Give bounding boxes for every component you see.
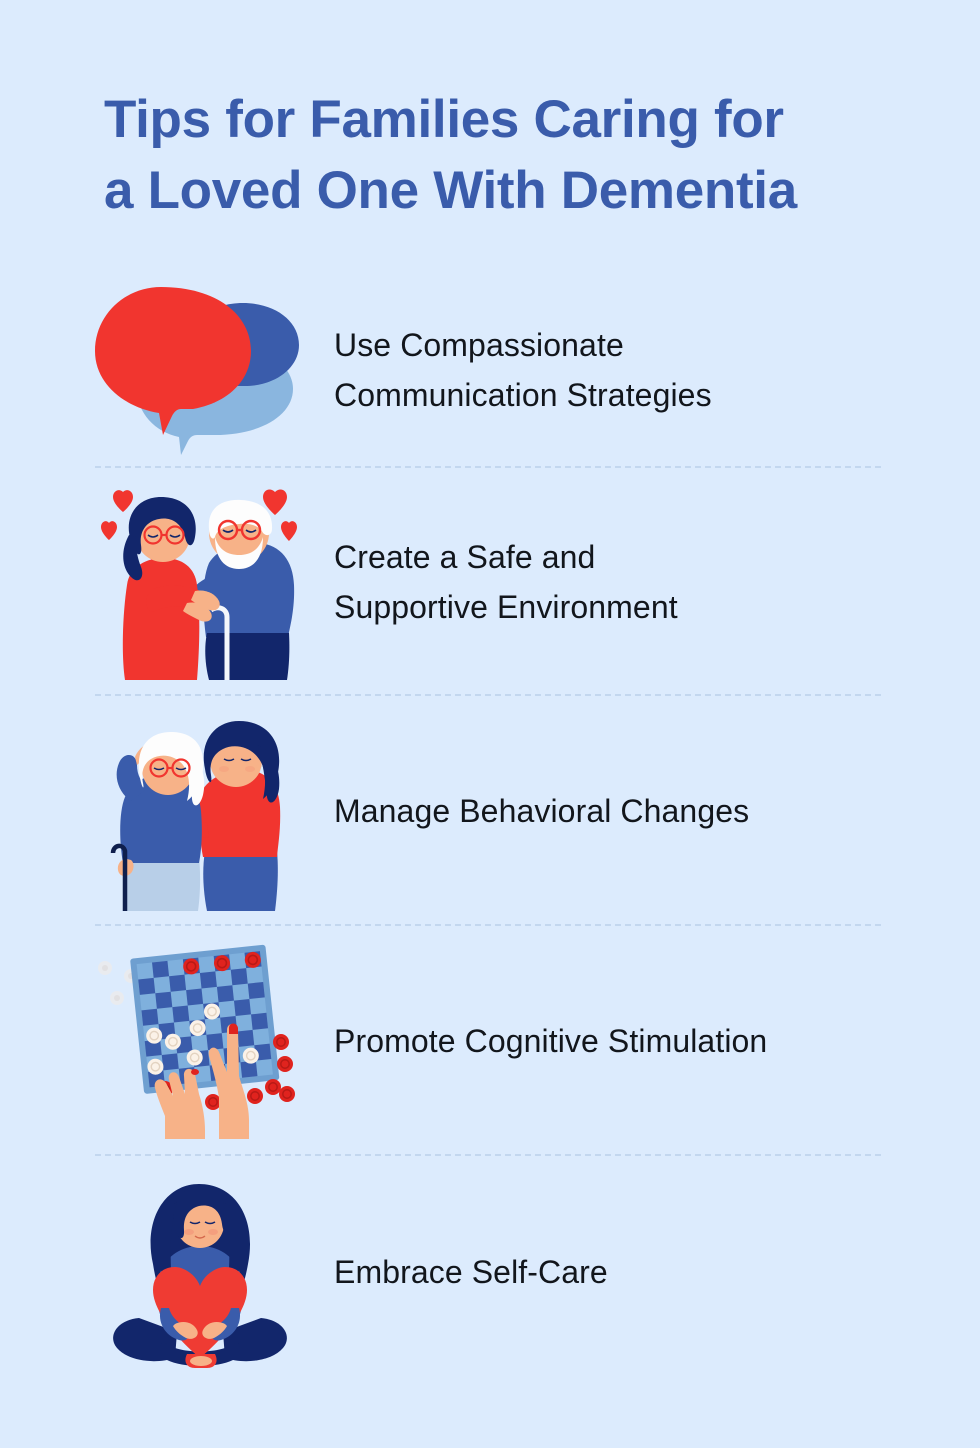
tips-list: Use Compassionate Communication Strategi… <box>0 272 980 1388</box>
infographic-poster: Tips for Families Caring for a Loved One… <box>0 0 980 1448</box>
tip-1-label-cell: Use Compassionate Communication Strategi… <box>308 320 980 420</box>
list-item-tip-3: Manage Behavioral Changes <box>0 696 980 926</box>
page-title-line-2: a Loved One With Dementia <box>104 155 904 226</box>
tip-1-label-line-1: Use Compassionate <box>334 320 940 370</box>
page-title: Tips for Families Caring for a Loved One… <box>104 84 904 226</box>
list-item-tip-4: Promote Cognitive Stimulation <box>0 926 980 1156</box>
couple-embrace-hearts-icon <box>88 487 308 677</box>
tip-3-label-cell: Manage Behavioral Changes <box>308 786 980 836</box>
list-item-tip-5: Embrace Self-Care <box>0 1156 980 1388</box>
page-title-line-1: Tips for Families Caring for <box>104 84 904 155</box>
speech-bubbles-icon <box>88 275 308 465</box>
woman-holding-heart-icon <box>88 1177 308 1367</box>
tip-4-label-cell: Promote Cognitive Stimulation <box>308 1016 980 1066</box>
tip-2-label-cell: Create a Safe and Supportive Environment <box>308 532 980 632</box>
list-item-tip-1: Use Compassionate Communication Strategi… <box>0 272 980 468</box>
list-item-tip-2: Create a Safe and Supportive Environment <box>0 468 980 696</box>
caregiver-elder-support-icon <box>88 716 308 906</box>
checkers-board-game-icon <box>88 946 308 1136</box>
tip-5-label-cell: Embrace Self-Care <box>308 1247 980 1297</box>
tip-2-label-line-2: Supportive Environment <box>334 582 940 632</box>
tip-5-label-line-1: Embrace Self-Care <box>334 1247 940 1297</box>
tip-3-label-line-1: Manage Behavioral Changes <box>334 786 940 836</box>
tip-1-label-line-2: Communication Strategies <box>334 370 940 420</box>
tip-2-label-line-1: Create a Safe and <box>334 532 940 582</box>
tip-4-label-line-1: Promote Cognitive Stimulation <box>334 1016 940 1066</box>
